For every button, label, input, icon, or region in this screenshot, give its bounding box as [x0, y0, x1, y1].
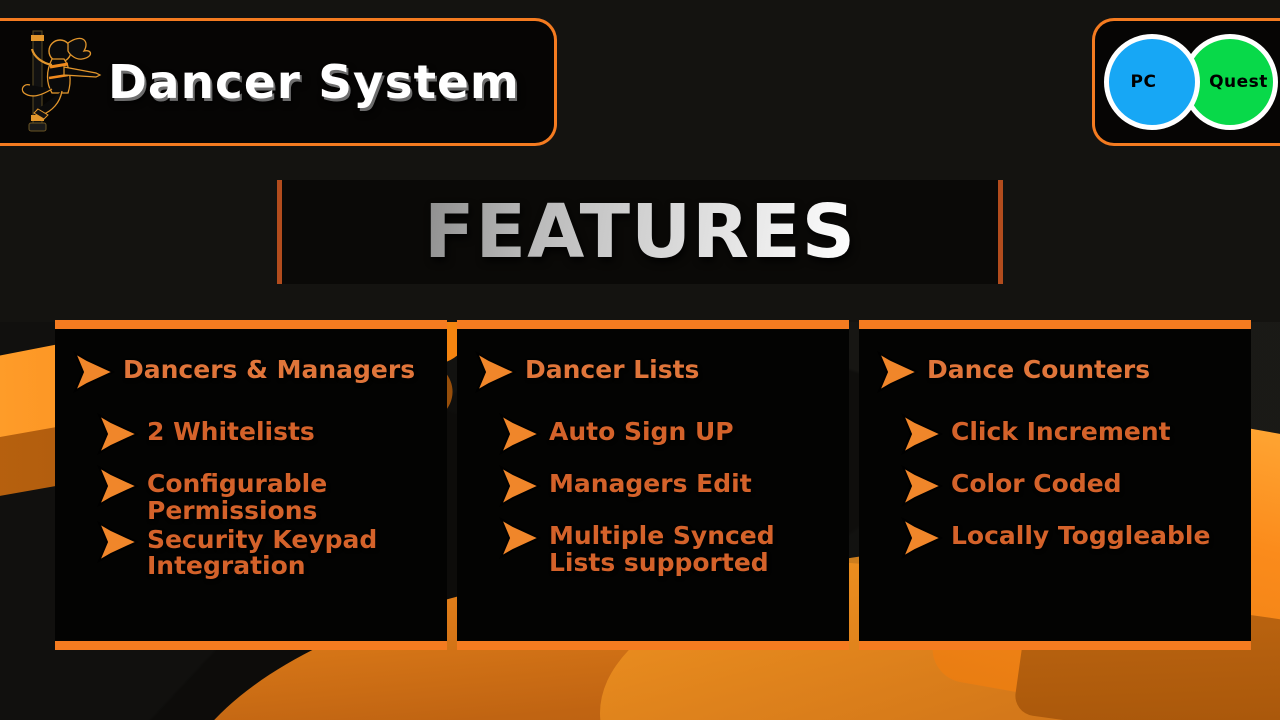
feature-item: Color Coded [865, 471, 1241, 507]
arrow-bullet-icon [497, 465, 543, 507]
features-heading: FEATURES [424, 189, 856, 275]
feature-item-label: 2 Whitelists [147, 419, 315, 446]
feature-card-dancer-lists: Dancer Lists Auto Sign UP Managers Edit … [457, 320, 849, 650]
feature-card-heading-row: Dancers & Managers [61, 357, 437, 393]
feature-card-heading-row: Dancer Lists [463, 357, 839, 393]
feature-item: Locally Toggleable [865, 523, 1241, 559]
feature-item: Security Keypad Integration [61, 527, 437, 581]
feature-item-label: Multiple Synced Lists supported [549, 523, 839, 577]
feature-item-label: Locally Toggleable [951, 523, 1210, 550]
platform-support-badge: PC Quest [1092, 18, 1280, 146]
feature-item: Multiple Synced Lists supported [463, 523, 839, 577]
feature-item: Auto Sign UP [463, 419, 839, 455]
feature-item: Managers Edit [463, 471, 839, 507]
arrow-bullet-icon [71, 351, 117, 393]
feature-item: Click Increment [865, 419, 1241, 455]
feature-item-label: Managers Edit [549, 471, 752, 498]
feature-item-label: Configurable Permissions [147, 471, 437, 525]
feature-card-heading: Dancers & Managers [123, 357, 415, 384]
feature-item-label: Security Keypad Integration [147, 527, 437, 581]
feature-item-label: Auto Sign UP [549, 419, 734, 446]
feature-item: Configurable Permissions [61, 471, 437, 525]
arrow-bullet-icon [95, 521, 141, 563]
page-title: Dancer System [108, 55, 520, 109]
pc-circle-icon: PC [1104, 34, 1200, 130]
arrow-bullet-icon [899, 517, 945, 559]
feature-card-heading: Dance Counters [927, 357, 1150, 384]
arrow-bullet-icon [473, 351, 519, 393]
arrow-bullet-icon [95, 465, 141, 507]
arrow-bullet-icon [497, 413, 543, 455]
feature-card-dance-counters: Dance Counters Click Increment Color Cod… [859, 320, 1251, 650]
arrow-bullet-icon [899, 465, 945, 507]
quest-label: Quest [1209, 72, 1268, 92]
arrow-bullet-icon [95, 413, 141, 455]
arrow-bullet-icon [875, 351, 921, 393]
feature-card-heading-row: Dance Counters [865, 357, 1241, 393]
feature-card-heading: Dancer Lists [525, 357, 699, 384]
app-header: Dancer System [0, 18, 557, 146]
pc-label: PC [1131, 72, 1157, 92]
feature-cards-container: Dancers & Managers 2 Whitelists Configur… [0, 320, 1280, 652]
arrow-bullet-icon [899, 413, 945, 455]
feature-item-label: Color Coded [951, 471, 1122, 498]
feature-item: 2 Whitelists [61, 419, 437, 455]
arrow-bullet-icon [497, 517, 543, 559]
feature-item-label: Click Increment [951, 419, 1171, 446]
features-title-banner: FEATURES [277, 180, 1003, 284]
pole-dancer-logo-icon [8, 23, 104, 141]
feature-card-dancers-managers: Dancers & Managers 2 Whitelists Configur… [55, 320, 447, 650]
